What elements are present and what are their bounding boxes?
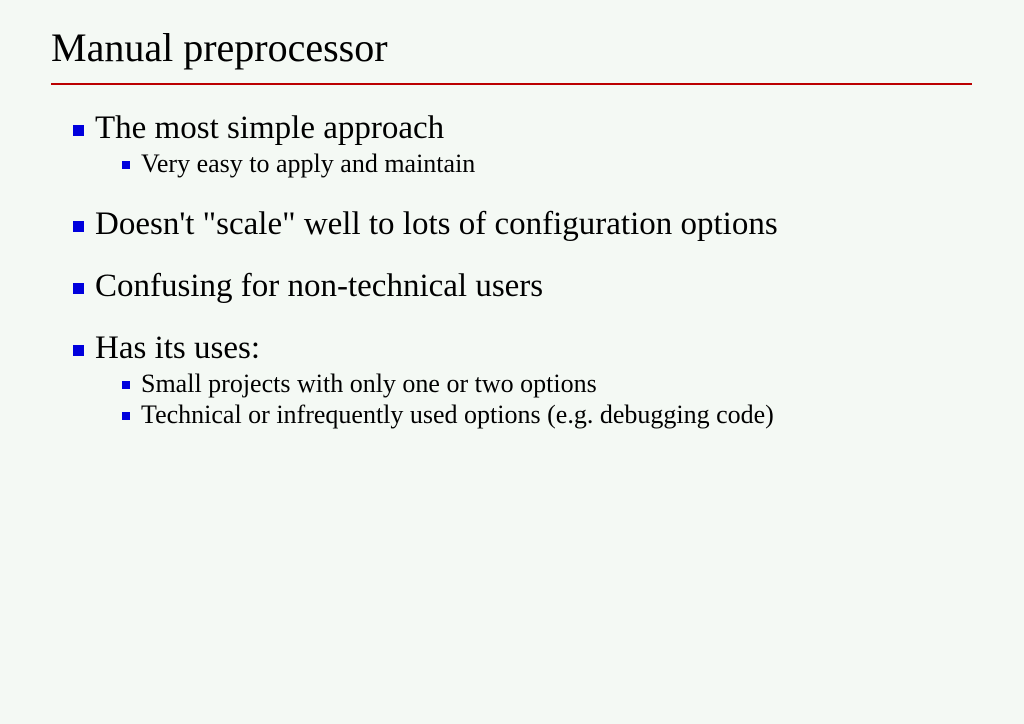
bullet-item-level1: Doesn't "scale" well to lots of configur… [0, 204, 1024, 244]
spacer [0, 306, 1024, 328]
title-underline-rule [51, 83, 972, 85]
square-bullet-icon [73, 221, 84, 232]
bullet-item-level2: Technical or infrequently used options (… [0, 399, 1024, 430]
bullet-label: Small projects with only one or two opti… [141, 368, 1024, 399]
bullet-label: The most simple approach [95, 108, 1024, 148]
bullet-item-level2: Small projects with only one or two opti… [0, 368, 1024, 399]
bullet-item-level1: Has its uses: [0, 328, 1024, 368]
slide: Manual preprocessor The most simple appr… [0, 0, 1024, 724]
bullet-label: Very easy to apply and maintain [141, 148, 1024, 179]
small-square-bullet-icon [122, 381, 130, 389]
slide-title-block: Manual preprocessor [51, 24, 972, 72]
square-bullet-icon [73, 345, 84, 356]
bullet-label: Technical or infrequently used options (… [141, 399, 871, 430]
small-square-bullet-icon [122, 161, 130, 169]
bullet-item-level1: Confusing for non-technical users [0, 266, 1024, 306]
bullet-label: Has its uses: [95, 328, 1024, 368]
bullet-label: Confusing for non-technical users [95, 266, 1024, 306]
spacer [0, 244, 1024, 266]
spacer [0, 179, 1024, 204]
small-square-bullet-icon [122, 412, 130, 420]
square-bullet-icon [73, 125, 84, 136]
bullet-label: Doesn't "scale" well to lots of configur… [95, 204, 1024, 244]
square-bullet-icon [73, 283, 84, 294]
bullet-item-level1: The most simple approach [0, 108, 1024, 148]
bullet-item-level2: Very easy to apply and maintain [0, 148, 1024, 179]
slide-body: The most simple approach Very easy to ap… [0, 108, 1024, 430]
page-title: Manual preprocessor [51, 24, 972, 72]
